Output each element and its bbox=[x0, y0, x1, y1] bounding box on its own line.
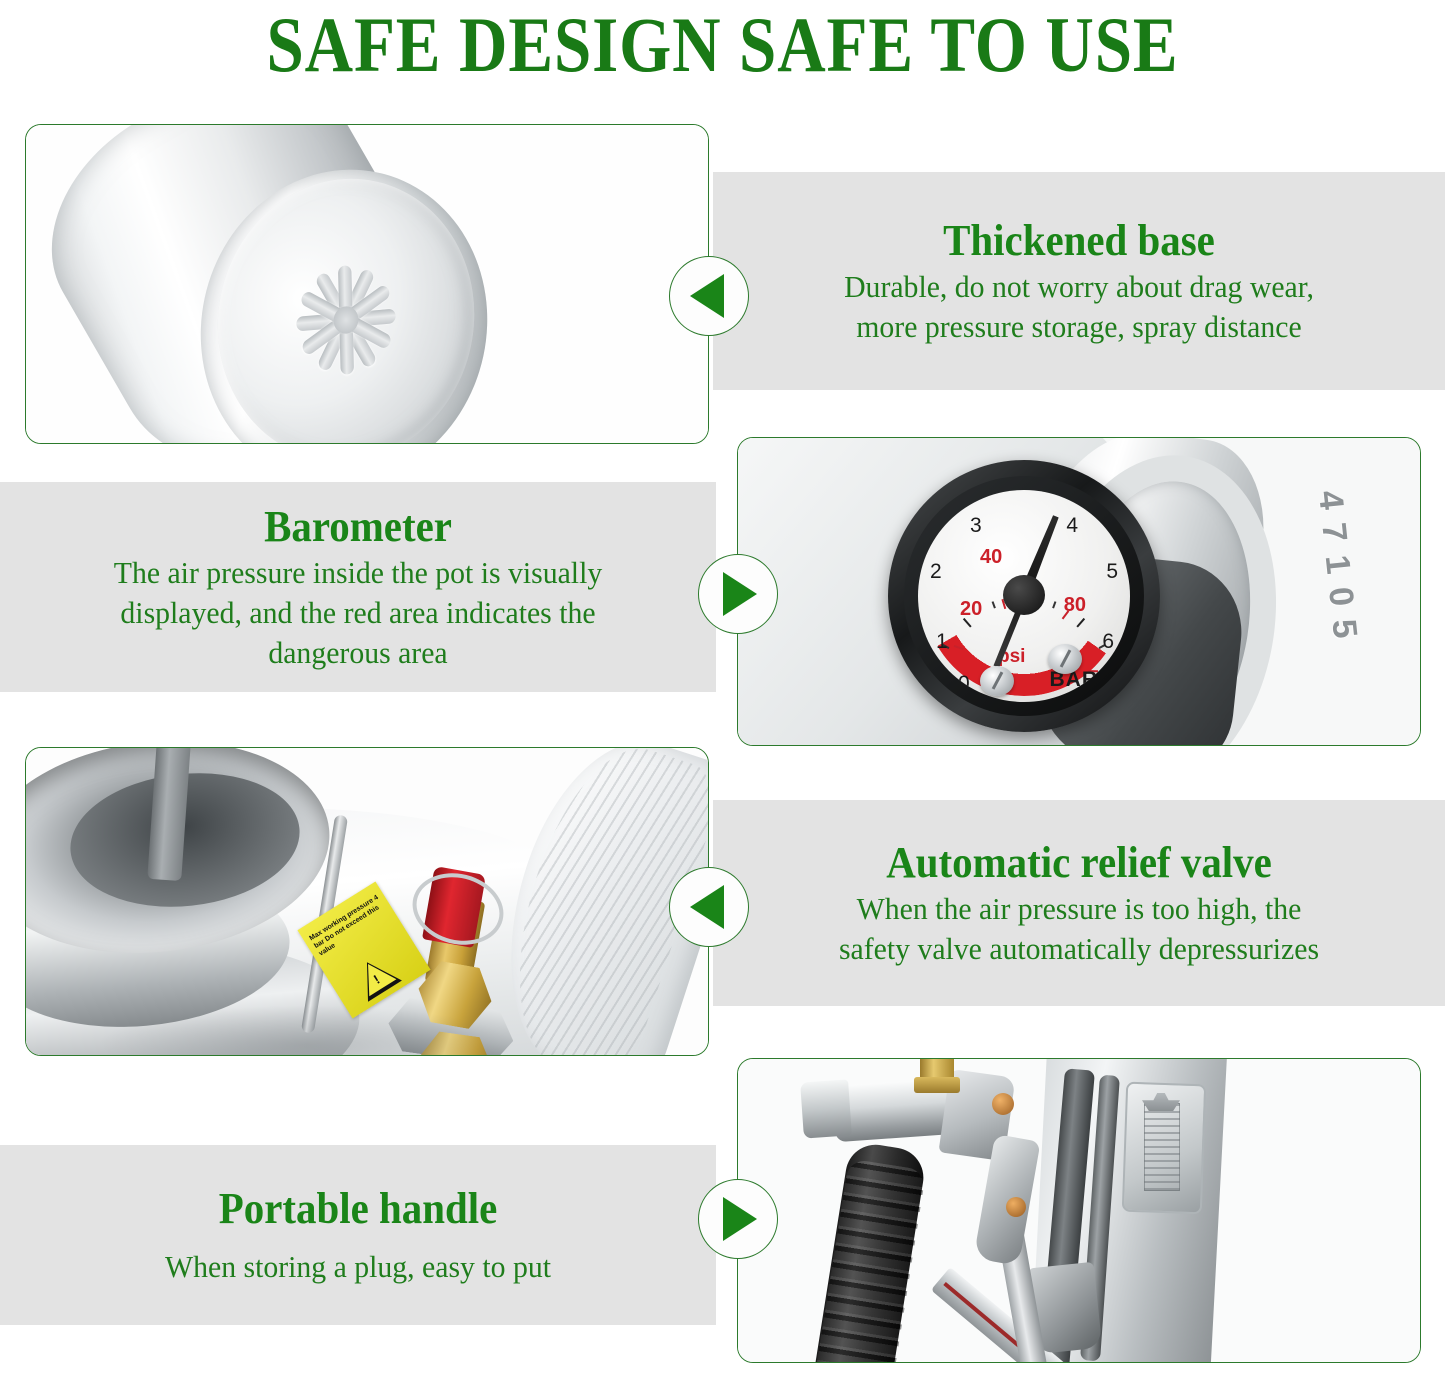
feature-heading: Automatic relief valve bbox=[739, 837, 1420, 889]
spray-gun-handle-photo bbox=[737, 1058, 1421, 1363]
feature-body: Durable, do not worry about drag wear, m… bbox=[728, 267, 1431, 347]
feature-heading: Portable handle bbox=[25, 1183, 691, 1235]
feature-body: When the air pressure is too high, the s… bbox=[728, 889, 1431, 969]
triangle-left-icon bbox=[690, 274, 724, 318]
copper-rivet-upper bbox=[992, 1093, 1014, 1115]
pressure-gauge-photo: 4 7 1 0 5 bbox=[737, 437, 1421, 746]
feature-body-line: more pressure storage, spray distance bbox=[741, 307, 1417, 347]
feature-panel-portable-handle: Portable handle When storing a plug, eas… bbox=[0, 1145, 716, 1325]
gauge-psi-tick-20: 20 bbox=[960, 598, 982, 621]
feature-body: The air pressure inside the pot is visua… bbox=[14, 553, 701, 673]
gauge-bar-tick-2: 2 bbox=[930, 560, 942, 584]
gauge-psi-tick-40: 40 bbox=[980, 546, 1002, 569]
triangle-right-icon bbox=[723, 572, 757, 616]
feature-body-line: safety valve automatically depressurizes bbox=[741, 929, 1417, 969]
feature-body-line: displayed, and the red area indicates th… bbox=[28, 593, 688, 633]
gauge-bezel: 0 1 2 3 4 5 6 20 40 80 psi BAR bbox=[888, 460, 1160, 732]
gauge-bar-tick-5: 5 bbox=[1106, 560, 1118, 584]
thickened-base-photo bbox=[25, 124, 709, 444]
triangle-right-icon bbox=[723, 1197, 757, 1241]
feature-marker-thickened-base bbox=[669, 256, 749, 336]
feature-body-line: When storing a plug, easy to put bbox=[28, 1247, 688, 1287]
feature-panel-barometer: Barometer The air pressure inside the po… bbox=[0, 482, 716, 692]
feature-panel-relief-valve: Automatic relief valve When the air pres… bbox=[713, 800, 1445, 1006]
gauge-bar-tick-1: 1 bbox=[936, 630, 948, 654]
feature-body: When storing a plug, easy to put bbox=[14, 1247, 701, 1287]
gauge-bar-tick-6: 6 bbox=[1102, 630, 1114, 654]
gun-valve-cap-shape bbox=[800, 1079, 852, 1138]
feature-heading: Thickened base bbox=[739, 215, 1420, 267]
gauge-psi-tick-80: 80 bbox=[1064, 594, 1086, 617]
gauge-needle-hub bbox=[1003, 575, 1045, 615]
triangle-left-icon bbox=[690, 885, 724, 929]
feature-body-line: dangerous area bbox=[28, 633, 688, 673]
gauge-bar-tick-4: 4 bbox=[1066, 514, 1078, 538]
gauge-bar-tick-0: 0 bbox=[958, 672, 970, 696]
gauge-screw-right bbox=[1048, 644, 1082, 674]
page-title: SAFE DESIGN SAFE TO USE bbox=[101, 2, 1344, 88]
feature-panel-thickened-base: Thickened base Durable, do not worry abo… bbox=[713, 172, 1445, 390]
feature-marker-relief-valve bbox=[669, 867, 749, 947]
feature-body-line: Durable, do not worry about drag wear, bbox=[741, 267, 1417, 307]
feature-body-line: The air pressure inside the pot is visua… bbox=[28, 553, 688, 593]
feature-body-line: When the air pressure is too high, the bbox=[741, 889, 1417, 929]
gauge-bar-tick-3: 3 bbox=[970, 514, 982, 538]
feature-heading: Barometer bbox=[25, 501, 691, 553]
copper-rivet-lower bbox=[1006, 1197, 1026, 1217]
feature-marker-portable-handle bbox=[698, 1179, 778, 1259]
feature-marker-barometer bbox=[698, 554, 778, 634]
gauge-dial-face: 0 1 2 3 4 5 6 20 40 80 psi BAR bbox=[918, 490, 1130, 702]
gauge-screw-left bbox=[980, 666, 1014, 696]
